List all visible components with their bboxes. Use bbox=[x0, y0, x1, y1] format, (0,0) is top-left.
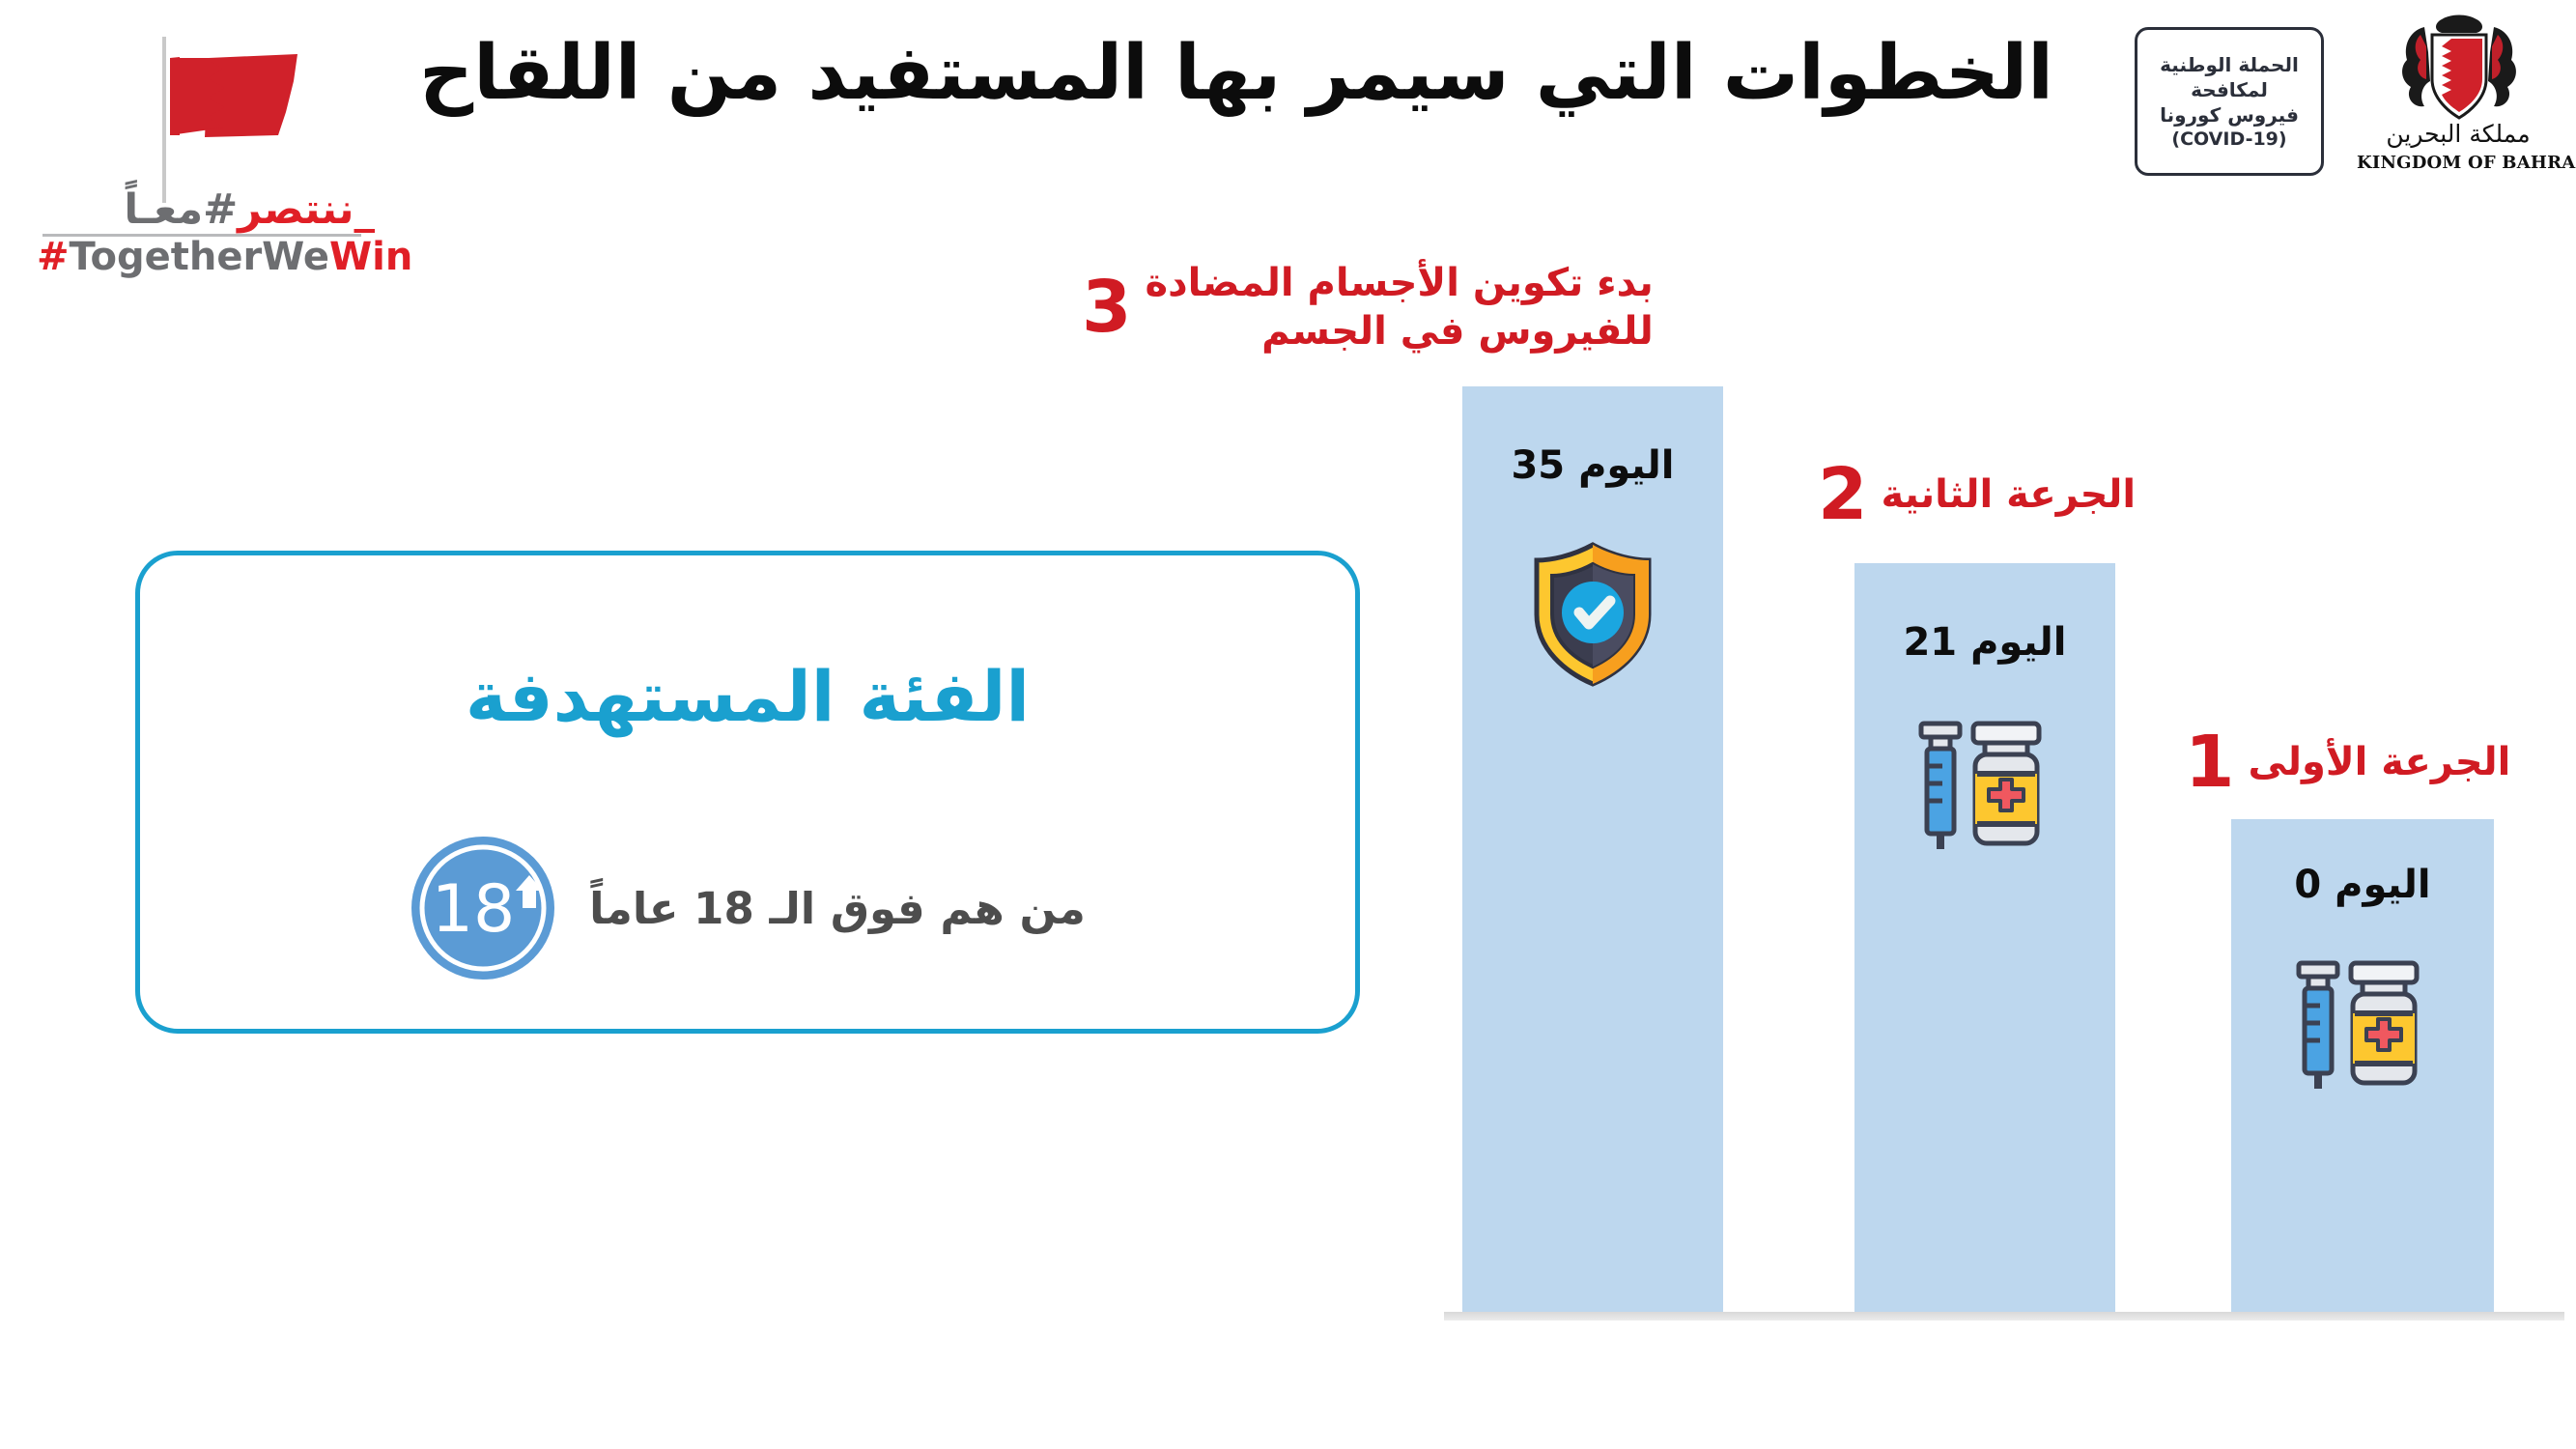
chart-baseline bbox=[1444, 1312, 2564, 1321]
target-group-title: الفئة المستهدفة bbox=[140, 662, 1355, 731]
bar-step-3: اليوم 35 bbox=[1462, 386, 1723, 1312]
step-3-number: 3 bbox=[1082, 271, 1132, 343]
step-label-2: 2 الجرعة الثانية bbox=[1818, 459, 2146, 530]
age-badge-number: 18 bbox=[432, 871, 516, 948]
kingdom-emblem-english: KINGDOM OF BAHRAIN bbox=[2357, 155, 2560, 172]
step-2-text: الجرعة الثانية bbox=[1882, 470, 2137, 519]
step-3-text-line-2: للفيروس في الجسم bbox=[1146, 307, 1654, 355]
infographic-canvas: _ننتصر#معـاً #TogetherWeWin الخطوات التي… bbox=[0, 0, 2576, 1449]
age-18-plus-icon: 18 bbox=[410, 835, 556, 981]
target-group-description: من هم فوق الـ 18 عاماً bbox=[589, 887, 1086, 930]
bar-step-1-day-label: اليوم 0 bbox=[2231, 866, 2494, 904]
bar-step-2-day-label: اليوم 21 bbox=[1854, 623, 2115, 662]
hashtag-english: #TogetherWeWin bbox=[37, 238, 375, 276]
bar-step-2: اليوم 21 bbox=[1854, 563, 2115, 1312]
flag-pole-icon bbox=[162, 37, 166, 203]
step-3-text: بدء تكوين الأجسام المضادة للفيروس في الج… bbox=[1146, 259, 1654, 355]
covid-campaign-badge: الحملة الوطنية لمكافحة فيروس كورونا (COV… bbox=[2135, 27, 2324, 176]
step-1-text: الجرعة الأولى bbox=[2249, 738, 2511, 786]
step-1-number: 1 bbox=[2185, 726, 2235, 798]
bar-step-3-day-label: اليوم 35 bbox=[1462, 446, 1723, 485]
hashtag-arabic-gray: #معـاً bbox=[124, 185, 238, 234]
step-2-number: 2 bbox=[1818, 459, 1868, 530]
bahrain-coat-of-arms-icon bbox=[2392, 14, 2527, 128]
hashtag-arabic-red: _ننتصر bbox=[238, 185, 375, 234]
step-label-3: 3 بدء تكوين الأجسام المضادة للفيروس في ا… bbox=[1082, 259, 1729, 355]
kingdom-of-bahrain-logo: مملكة البحرين KINGDOM OF BAHRAIN bbox=[2357, 14, 2560, 183]
vaccine-syringe-vial-icon bbox=[1913, 710, 2056, 857]
vaccine-syringe-vial-icon bbox=[2291, 950, 2434, 1096]
hashtag-english-red: Win bbox=[329, 235, 412, 279]
shield-check-icon bbox=[1527, 541, 1658, 692]
target-group-row: 18 من هم فوق الـ 18 عاماً bbox=[140, 836, 1355, 980]
hashtag-english-hash: # bbox=[37, 235, 70, 279]
covid-campaign-line-1: الحملة الوطنية bbox=[2160, 53, 2299, 76]
campaign-logo: _ننتصر#معـاً #TogetherWeWin bbox=[27, 17, 394, 264]
covid-campaign-line-2: لمكافحة bbox=[2191, 78, 2268, 101]
bahrain-flag-icon bbox=[170, 52, 297, 141]
step-label-1: 1 الجرعة الأولى bbox=[2185, 726, 2513, 798]
bar-step-1: اليوم 0 bbox=[2231, 819, 2494, 1312]
step-3-text-line-1: بدء تكوين الأجسام المضادة bbox=[1146, 259, 1654, 307]
target-group-card: الفئة المستهدفة 18 من هم فوق الـ 18 عاما… bbox=[135, 551, 1360, 1034]
hashtag-english-gray: TogetherWe bbox=[70, 235, 330, 279]
covid-campaign-line-4: (COVID-19) bbox=[2171, 128, 2286, 151]
page-title: الخطوات التي سيمر بها المستفيد من اللقاح bbox=[415, 29, 2057, 145]
hashtag-arabic: _ننتصر#معـاً bbox=[37, 189, 375, 231]
covid-campaign-line-3: فيروس كورونا bbox=[2160, 103, 2299, 127]
kingdom-emblem-arabic: مملكة البحرين bbox=[2357, 122, 2560, 146]
